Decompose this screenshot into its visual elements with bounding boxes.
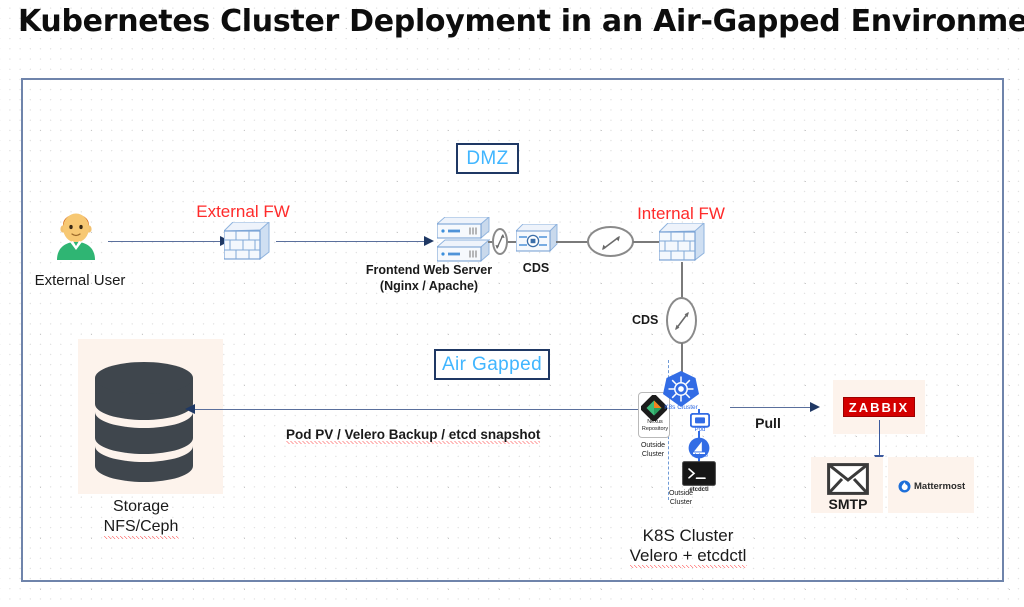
label-k8s-caption-line2: Velero + etcdctl — [630, 546, 747, 568]
etcdctl-terminal-icon — [682, 461, 716, 486]
break-symbol-cds-internal — [666, 297, 697, 344]
frontend-web-server-icon — [437, 217, 491, 265]
outside-cluster-bottom-line2: Cluster — [670, 499, 692, 507]
external-user-avatar — [53, 204, 99, 260]
zone-label-dmz: DMZ — [466, 148, 508, 170]
label-frontend-web-server-line2: (Nginx / Apache) — [380, 279, 478, 294]
smtp-envelope-icon — [827, 463, 869, 495]
cds-device-icon — [516, 224, 558, 258]
label-external-fw: External FW — [196, 202, 290, 222]
connector-cds2-to-k8s — [681, 343, 683, 373]
label-cds-internal: CDS — [632, 313, 658, 328]
velero-mini-label: Velero — [692, 453, 708, 459]
nexus-label-line1: Nexus — [647, 419, 663, 425]
mattermost-label: Mattermost — [914, 481, 965, 492]
internal-fw-icon — [659, 223, 705, 261]
page-title: Kubernetes Cluster Deployment in an Air-… — [18, 4, 1024, 39]
outside-cluster-bottom-line1: Outside — [669, 490, 693, 498]
label-external-user: External User — [35, 272, 126, 290]
zone-box-air-gapped: Air Gapped — [434, 349, 550, 380]
label-storage-line2: NFS/Ceph — [104, 518, 179, 539]
zabbix-logo-icon: ZABBIX — [843, 397, 915, 417]
connector-internalfw-to-cds2 — [681, 262, 683, 298]
label-internal-fw: Internal FW — [637, 204, 725, 224]
connector-extfw-to-webserver — [276, 241, 424, 242]
k8s-cluster-mini-label: K8s Cluster — [664, 404, 698, 411]
connector-user-to-extfw — [108, 241, 220, 242]
zone-box-dmz: DMZ — [456, 143, 519, 174]
label-smtp: SMTP — [829, 496, 868, 513]
connector-break-to-internalfw — [633, 241, 660, 243]
storage-cylinder-icon — [95, 360, 193, 488]
kubernetes-logo-icon — [662, 370, 700, 408]
label-frontend-web-server-line1: Frontend Web Server — [366, 263, 492, 278]
external-fw-icon — [224, 222, 270, 260]
mattermost-logo-icon: Mattermost — [898, 480, 965, 493]
diagram-canvas: Kubernetes Cluster Deployment in an Air-… — [0, 0, 1024, 607]
connector-k8s-to-zabbix — [730, 407, 810, 408]
mattermost-glyph-icon — [898, 480, 911, 493]
label-storage-line1: Storage — [113, 498, 169, 517]
zone-label-air-gapped: Air Gapped — [442, 354, 542, 376]
label-cds-dmz: CDS — [523, 261, 549, 276]
label-k8s-caption-line1: K8S Cluster — [643, 526, 734, 546]
outside-cluster-left-line2: Cluster — [642, 451, 664, 459]
connector-zabbix-to-notify — [879, 420, 880, 457]
break-symbol-webserver-cds — [492, 228, 508, 255]
zabbix-label: ZABBIX — [849, 400, 909, 415]
label-pull: Pull — [755, 415, 781, 432]
arrowhead-pull-to-zabbix — [810, 402, 820, 412]
arrowhead-extfw-to-webserver — [424, 236, 434, 246]
connector-cds-to-break — [556, 241, 588, 243]
pod-mini-label: Pod — [695, 427, 706, 434]
break-symbol-dmz-to-internal — [587, 226, 634, 257]
arrowhead-k8s-to-storage — [185, 404, 195, 414]
connector-k8s-to-storage — [195, 409, 650, 410]
nexus-label-line2: Repository — [642, 426, 668, 432]
outside-cluster-left-line1: Outside — [641, 442, 665, 450]
label-backup-flow: Pod PV / Velero Backup / etcd snapshot — [286, 427, 540, 443]
